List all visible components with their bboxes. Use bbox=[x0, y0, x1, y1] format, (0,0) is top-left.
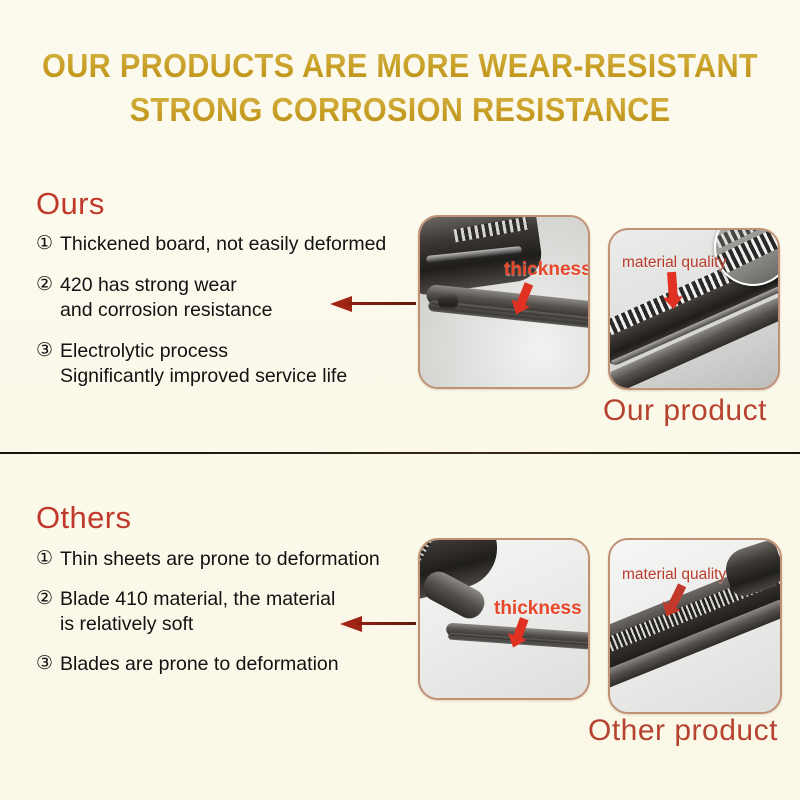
list-item: ③ Blades are prone to deformation bbox=[36, 652, 416, 677]
bullet-number: ② bbox=[36, 273, 60, 297]
bullet-text: Electrolytic process Significantly impro… bbox=[60, 339, 416, 389]
photo-panel-others-material: material quality bbox=[608, 538, 782, 714]
bullet-list-ours: ① Thickened board, not easily deformed ②… bbox=[36, 232, 416, 405]
bullet-text: Blades are prone to deformation bbox=[60, 652, 416, 677]
bullet-text: Thin sheets are prone to deformation bbox=[60, 547, 416, 572]
thickness-label: thickness bbox=[504, 259, 588, 281]
photo-panel-others-thickness: thickness bbox=[418, 538, 590, 700]
photo-others-thickness: thickness bbox=[420, 540, 588, 698]
list-item: ① Thin sheets are prone to deformation bbox=[36, 547, 416, 572]
section-divider bbox=[0, 452, 800, 454]
caption-our-product: Our product bbox=[603, 394, 767, 428]
arrow-shaft bbox=[357, 622, 416, 625]
material-quality-label: material quality bbox=[622, 254, 726, 272]
photo-panel-ours-thickness: thickness bbox=[418, 215, 590, 389]
section-heading-others: Others bbox=[36, 500, 131, 536]
peeler-rivet bbox=[438, 291, 458, 311]
list-item: ① Thickened board, not easily deformed bbox=[36, 232, 416, 257]
bullet-number: ② bbox=[36, 587, 60, 611]
pointer-arrow-ours bbox=[330, 296, 416, 312]
bullet-text: Thickened board, not easily deformed bbox=[60, 232, 416, 257]
page-title: OUR PRODUCTS ARE MORE WEAR-RESISTANT STR… bbox=[28, 44, 772, 131]
material-pointer-arrow bbox=[667, 272, 678, 301]
arrow-shaft bbox=[347, 302, 416, 305]
bullet-number: ③ bbox=[36, 652, 60, 676]
infographic-page: OUR PRODUCTS ARE MORE WEAR-RESISTANT STR… bbox=[0, 0, 800, 800]
photo-ours-material: material quality bbox=[610, 230, 778, 388]
pointer-arrow-others bbox=[340, 616, 416, 632]
headline-line-2: STRONG CORROSION RESISTANCE bbox=[28, 88, 772, 132]
caption-other-product: Other product bbox=[588, 714, 778, 748]
headline-line-1: OUR PRODUCTS ARE MORE WEAR-RESISTANT bbox=[28, 44, 772, 88]
bullet-number: ① bbox=[36, 232, 60, 256]
photo-others-material: material quality bbox=[610, 540, 780, 712]
bullet-number: ③ bbox=[36, 339, 60, 363]
bullet-number: ① bbox=[36, 547, 60, 571]
photo-panel-ours-material: material quality bbox=[608, 228, 780, 390]
section-heading-ours: Ours bbox=[36, 186, 105, 222]
list-item: ③ Electrolytic process Significantly imp… bbox=[36, 339, 416, 389]
material-quality-label: material quality bbox=[622, 566, 726, 584]
thickness-label: thickness bbox=[494, 598, 582, 620]
photo-ours-thickness: thickness bbox=[420, 217, 588, 387]
